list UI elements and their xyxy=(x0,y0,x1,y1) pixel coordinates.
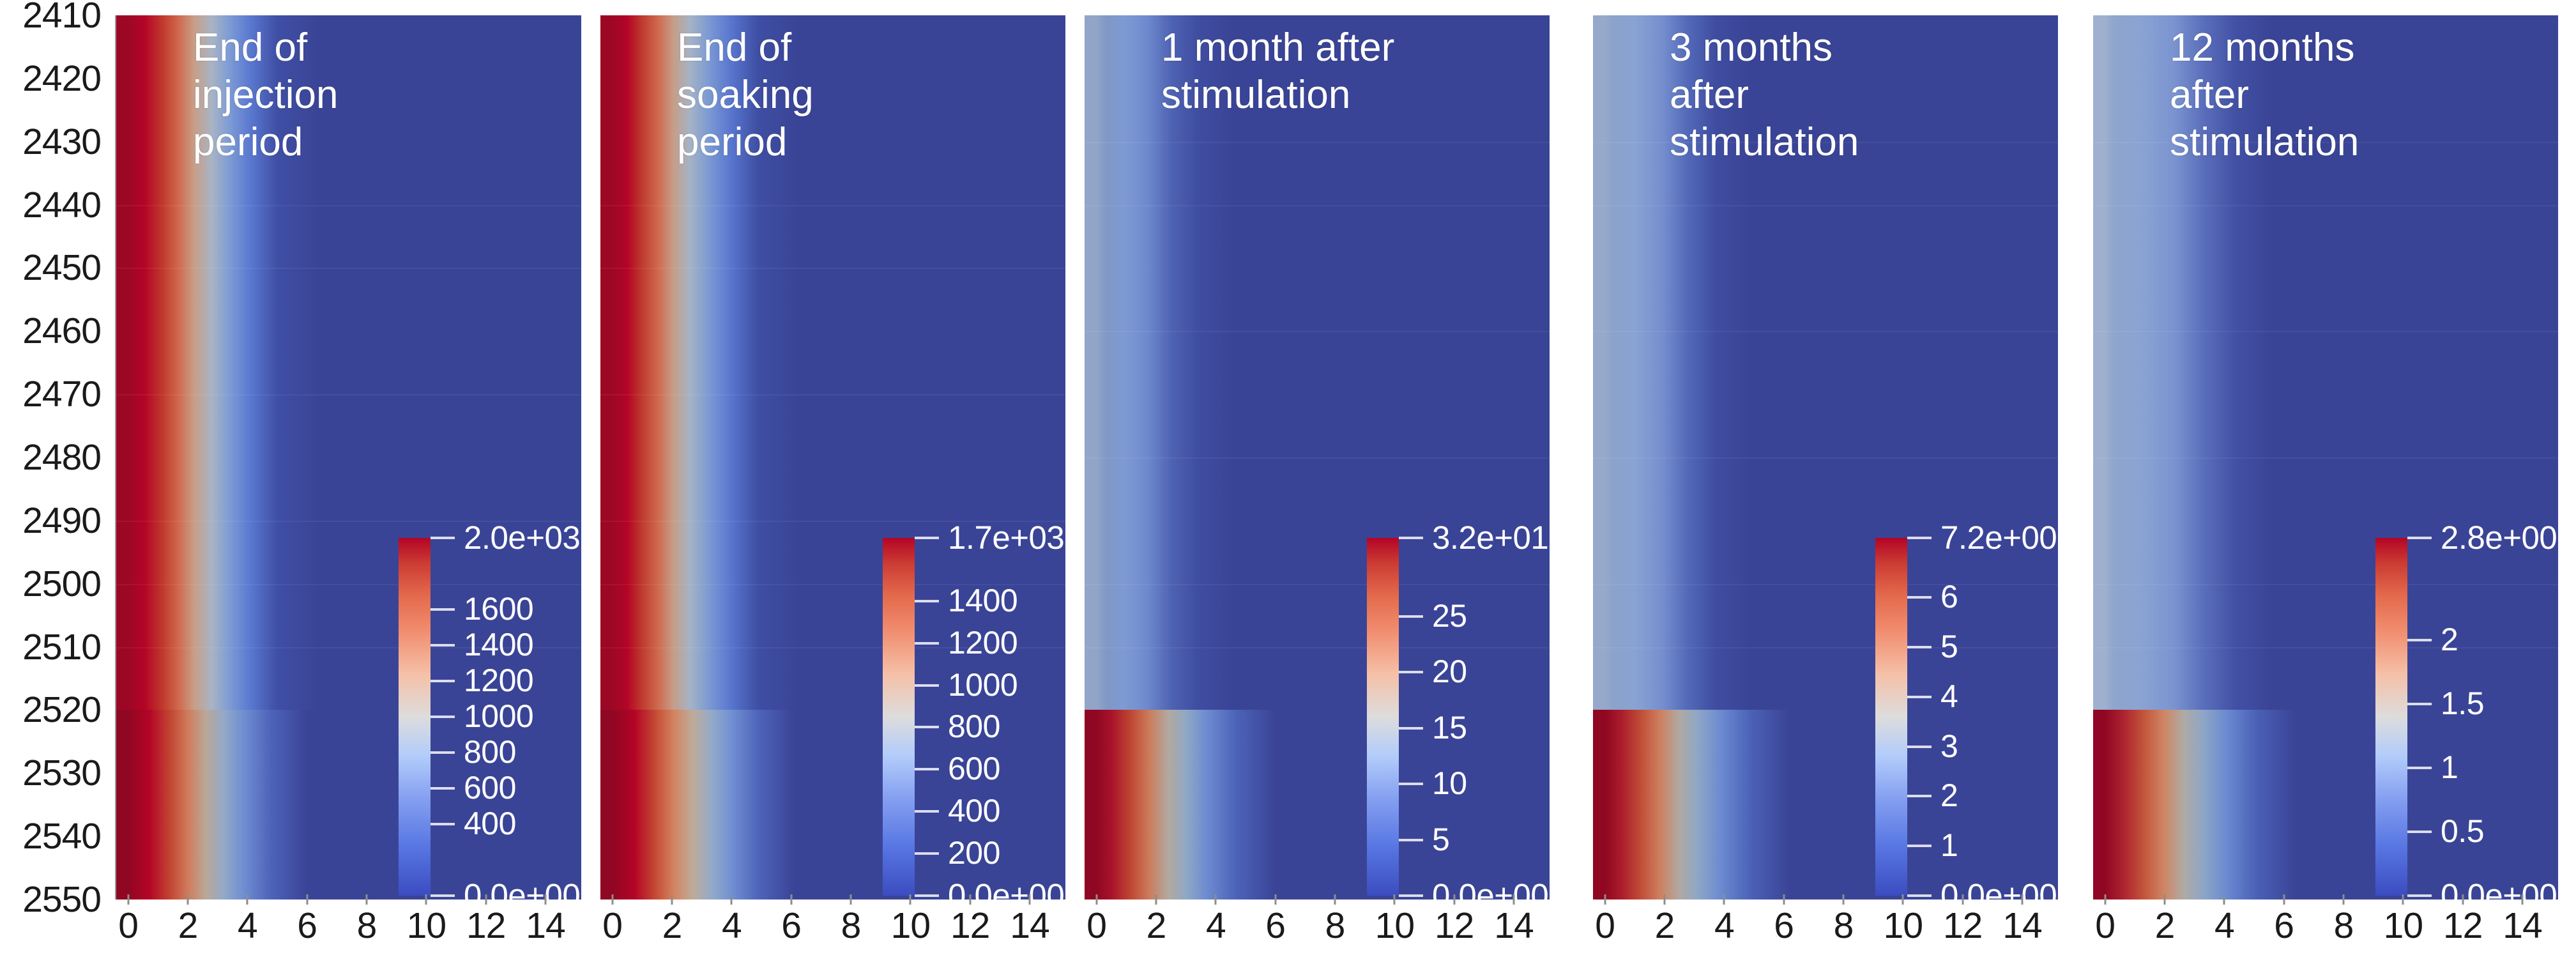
colorbar-tick-text: 1200 xyxy=(948,624,1017,661)
colorbar-tick-mark xyxy=(915,894,939,897)
depth-tick-label: 2450 xyxy=(22,247,101,289)
strata-seam xyxy=(1085,205,1550,206)
colorbar-tick-mark xyxy=(915,768,939,770)
colorbar-gradient xyxy=(399,538,431,896)
colorbar-tick-text: 1.5 xyxy=(2441,685,2484,722)
colorbar-tick-text: 1600 xyxy=(464,590,533,627)
distance-tick-label: 8 xyxy=(2334,905,2354,947)
colorbar-tick-mark xyxy=(1907,795,1932,797)
distance-tick-label: 2 xyxy=(178,905,198,947)
distance-tick-label: 0 xyxy=(602,905,622,947)
distance-tick-label: 6 xyxy=(781,905,801,947)
distance-tick-label: 4 xyxy=(238,905,257,947)
colorbar-tick-text: 2 xyxy=(2441,621,2458,658)
panel-title: End of injection period xyxy=(193,24,493,165)
distance-tick-label: 12 xyxy=(1435,905,1474,947)
distance-tick-label: 4 xyxy=(1206,905,1226,947)
colorbar-tick-mark xyxy=(1399,783,1423,785)
colorbar-tick-text: 10 xyxy=(1432,765,1467,802)
distance-tick-label: 10 xyxy=(2384,905,2423,947)
panel-end-of-soaking-period: End of soaking period1.7e+03140012001000… xyxy=(600,0,1065,957)
distance-tick-mark xyxy=(545,894,547,905)
depth-tick-label: 2510 xyxy=(22,626,101,668)
panel-one-month-after-stimulation: 1 month after stimulation3.2e+0125201510… xyxy=(1085,0,1550,957)
distance-tick-mark xyxy=(1604,894,1606,905)
colorbar: 7.2e+006543210.0e+00 xyxy=(1875,538,2067,896)
colorbar-tick-text: 1.7e+03 xyxy=(948,519,1064,556)
distance-tick-label: 12 xyxy=(466,905,505,947)
colorbar-tick-mark xyxy=(1907,537,1932,539)
colorbar-tick-text: 800 xyxy=(948,708,1000,745)
strata-seam xyxy=(600,268,1065,269)
colorbar-gradient xyxy=(2375,538,2407,896)
distance-tick-label: 10 xyxy=(891,905,930,947)
distance-tick-mark xyxy=(850,894,852,905)
colorbar-tick-mark xyxy=(1907,845,1932,847)
colorbar-tick-mark xyxy=(431,537,455,539)
colorbar-tick-mark xyxy=(1399,727,1423,730)
distance-tick-label: 2 xyxy=(2155,905,2175,947)
colorbar-tick-text: 1000 xyxy=(948,666,1017,703)
strata-seam xyxy=(1085,457,1550,459)
distance-tick-mark xyxy=(671,894,673,905)
distance-tick-mark xyxy=(1902,894,1904,905)
distance-tick-mark xyxy=(1962,894,1963,905)
colorbar-tick-text: 0.5 xyxy=(2441,813,2484,850)
colorbar-tick-mark xyxy=(915,642,939,645)
colorbar-tick-text: 6 xyxy=(1940,578,1958,615)
colorbar-tick-text: 1200 xyxy=(464,662,533,699)
colorbar-tick-text: 25 xyxy=(1432,597,1467,634)
distance-tick-label: 0 xyxy=(1086,905,1106,947)
colorbar-tick-text: 20 xyxy=(1432,653,1467,690)
depth-tick-label: 2420 xyxy=(22,57,101,100)
panel-title: 1 month after stimulation xyxy=(1161,24,1461,119)
colorbar-tick-mark xyxy=(431,751,455,754)
colorbar-tick-mark xyxy=(431,608,455,611)
distance-tick-mark xyxy=(969,894,971,905)
colorbar-tick-text: 400 xyxy=(464,805,516,842)
colorbar-tick-mark xyxy=(1399,894,1423,897)
distance-tick-label: 8 xyxy=(841,905,861,947)
strata-seam xyxy=(600,205,1065,206)
panel-end-of-injection-period: End of injection period2.0e+031600140012… xyxy=(116,0,581,957)
distance-tick-label: 4 xyxy=(722,905,742,947)
distance-tick-mark xyxy=(1334,894,1336,905)
distance-tick-mark xyxy=(2343,894,2345,905)
distance-tick-mark xyxy=(2462,894,2464,905)
strata-seam xyxy=(2093,331,2558,332)
depth-tick-label: 2520 xyxy=(22,689,101,731)
distance-tick-mark xyxy=(366,894,368,905)
distance-tick-mark xyxy=(187,894,189,905)
distance-tick-label: 8 xyxy=(1325,905,1345,947)
colorbar-tick-text: 200 xyxy=(948,834,1000,871)
colorbar-tick-mark xyxy=(1907,646,1932,648)
panel-three-months-after-stimulation: 3 months after stimulation7.2e+006543210… xyxy=(1593,0,2058,957)
multi-panel-heatmap-figure: 2410242024302440245024602470248024902500… xyxy=(0,0,2576,957)
colorbar-tick-text: 400 xyxy=(948,792,1000,829)
distance-tick-label: 2 xyxy=(1655,905,1675,947)
colorbar: 3.2e+012520151050.0e+00 xyxy=(1367,538,1559,896)
colorbar-tick-mark xyxy=(2407,767,2432,769)
distance-tick-label: 6 xyxy=(1774,905,1794,947)
depth-tick-label: 2480 xyxy=(22,436,101,478)
colorbar-tick-mark xyxy=(431,823,455,825)
colorbar-gradient xyxy=(883,538,915,896)
strata-seam xyxy=(116,394,581,395)
colorbar-tick-mark xyxy=(915,600,939,602)
distance-tick-mark xyxy=(2223,894,2225,905)
colorbar: 1.7e+031400120010008006004002000.0e+00 xyxy=(883,538,1074,896)
colorbar-tick-mark xyxy=(915,684,939,687)
strata-seam xyxy=(1593,205,2058,206)
distance-tick-mark xyxy=(611,894,613,905)
colorbar-tick-text: 1000 xyxy=(464,698,533,735)
strata-seam xyxy=(1593,457,2058,459)
colorbar-tick-mark xyxy=(915,726,939,728)
distance-tick-label: 14 xyxy=(1010,905,1049,947)
distance-tick-mark xyxy=(247,894,248,905)
colorbar-tick-mark xyxy=(431,716,455,718)
panel-title: End of soaking period xyxy=(677,24,977,165)
colorbar-tick-text: 600 xyxy=(948,750,1000,787)
distance-tick-label: 14 xyxy=(526,905,565,947)
depth-tick-label: 2530 xyxy=(22,752,101,794)
strata-seam xyxy=(600,394,1065,395)
depth-tick-label: 2440 xyxy=(22,184,101,226)
distance-tick-mark xyxy=(425,894,427,905)
colorbar-gradient xyxy=(1875,538,1907,896)
panel-title: 12 months after stimulation xyxy=(2170,24,2470,165)
colorbar-tick-text: 1 xyxy=(2441,749,2458,786)
colorbar-tick-text: 800 xyxy=(464,733,516,770)
distance-tick-mark xyxy=(910,894,911,905)
distance-tick-mark xyxy=(1095,894,1097,905)
colorbar-tick-text: 2.0e+03 xyxy=(464,519,580,556)
distance-tick-mark xyxy=(1274,894,1276,905)
distance-axis: 02468101214 xyxy=(2093,900,2558,957)
colorbar-tick-text: 2.8e+00 xyxy=(2441,519,2557,556)
colorbar-tick-text: 3 xyxy=(1940,728,1958,765)
strata-seam xyxy=(116,205,581,206)
distance-tick-label: 6 xyxy=(1265,905,1285,947)
distance-tick-mark xyxy=(731,894,733,905)
distance-tick-label: 2 xyxy=(662,905,682,947)
colorbar-tick-mark xyxy=(915,537,939,539)
distance-tick-label: 10 xyxy=(1884,905,1923,947)
strata-seam xyxy=(116,268,581,269)
distance-tick-mark xyxy=(127,894,129,905)
strata-seam xyxy=(1085,331,1550,332)
depth-tick-label: 2500 xyxy=(22,563,101,605)
distance-tick-label: 10 xyxy=(1375,905,1414,947)
colorbar-tick-mark xyxy=(2407,537,2432,539)
distance-tick-mark xyxy=(306,894,308,905)
distance-tick-mark xyxy=(2283,894,2285,905)
distance-tick-mark xyxy=(485,894,487,905)
colorbar-tick-mark xyxy=(431,644,455,647)
colorbar-tick-text: 5 xyxy=(1432,821,1449,858)
distance-tick-label: 4 xyxy=(2214,905,2234,947)
depth-tick-label: 2490 xyxy=(22,500,101,542)
depth-tick-label: 2460 xyxy=(22,310,101,352)
colorbar-tick-mark xyxy=(1399,839,1423,841)
distance-tick-mark xyxy=(1453,894,1455,905)
colorbar-tick-text: 600 xyxy=(464,769,516,806)
colorbar-tick-mark xyxy=(2407,639,2432,641)
distance-tick-label: 14 xyxy=(2002,905,2041,947)
colorbar-tick-text: 1400 xyxy=(948,582,1017,619)
distance-tick-label: 12 xyxy=(2443,905,2482,947)
colorbar-tick-mark xyxy=(1907,596,1932,599)
colorbar-tick-mark xyxy=(1907,696,1932,698)
distance-tick-label: 8 xyxy=(1834,905,1854,947)
distance-tick-label: 6 xyxy=(297,905,317,947)
colorbar-tick-text: 7.2e+00 xyxy=(1940,519,2057,556)
distance-tick-mark xyxy=(1723,894,1725,905)
colorbar: 2.8e+0021.510.50.0e+00 xyxy=(2375,538,2567,896)
distance-tick-mark xyxy=(1029,894,1031,905)
strata-seam xyxy=(2093,457,2558,459)
colorbar-tick-mark xyxy=(2407,703,2432,705)
distance-tick-label: 8 xyxy=(357,905,377,947)
colorbar: 2.0e+0316001400120010008006004000.0e+00 xyxy=(399,538,590,896)
panel-twelve-months-after-stimulation: 12 months after stimulation2.8e+0021.510… xyxy=(2093,0,2558,957)
colorbar-tick-text: 5 xyxy=(1940,628,1958,665)
colorbar-tick-mark xyxy=(1399,671,1423,673)
colorbar-tick-mark xyxy=(431,680,455,682)
distance-tick-label: 14 xyxy=(2503,905,2542,947)
distance-tick-label: 14 xyxy=(1494,905,1533,947)
distance-tick-mark xyxy=(2522,894,2524,905)
distance-tick-mark xyxy=(2164,894,2166,905)
colorbar-tick-mark xyxy=(1399,537,1423,539)
colorbar-tick-mark xyxy=(1907,746,1932,748)
distance-tick-mark xyxy=(2402,894,2404,905)
depth-tick-label: 2540 xyxy=(22,815,101,857)
colorbar-tick-text: 4 xyxy=(1940,678,1958,715)
distance-tick-mark xyxy=(2104,894,2106,905)
distance-tick-label: 2 xyxy=(1147,905,1166,947)
strata-seam xyxy=(1085,142,1550,143)
distance-tick-label: 12 xyxy=(1943,905,1982,947)
distance-tick-label: 0 xyxy=(1595,905,1615,947)
colorbar-tick-mark xyxy=(1907,894,1932,897)
colorbar-tick-text: 15 xyxy=(1432,709,1467,746)
strata-seam xyxy=(2093,205,2558,206)
distance-tick-label: 10 xyxy=(407,905,446,947)
colorbar-tick-text: 1400 xyxy=(464,626,533,663)
distance-tick-mark xyxy=(1215,894,1217,905)
distance-tick-mark xyxy=(1155,894,1157,905)
colorbar-tick-mark xyxy=(431,894,455,897)
colorbar-tick-mark xyxy=(915,810,939,813)
colorbar-tick-mark xyxy=(2407,894,2432,897)
panel-title: 3 months after stimulation xyxy=(1670,24,1970,165)
distance-tick-label: 4 xyxy=(1714,905,1734,947)
colorbar-tick-mark xyxy=(2407,831,2432,833)
colorbar-tick-mark xyxy=(431,787,455,790)
distance-axis: 02468101214 xyxy=(1593,900,2058,957)
distance-tick-label: 12 xyxy=(950,905,989,947)
strata-seam xyxy=(1593,331,2058,332)
colorbar-gradient xyxy=(1367,538,1399,896)
distance-tick-mark xyxy=(1513,894,1515,905)
colorbar-tick-text: 1 xyxy=(1940,827,1958,864)
distance-tick-label: 6 xyxy=(2274,905,2294,947)
distance-tick-mark xyxy=(1783,894,1785,905)
colorbar-tick-text: 3.2e+01 xyxy=(1432,519,1548,556)
distance-axis: 02468101214 xyxy=(116,900,581,957)
distance-tick-mark xyxy=(2022,894,2023,905)
distance-axis: 02468101214 xyxy=(1085,900,1550,957)
distance-axis: 02468101214 xyxy=(600,900,1065,957)
depth-tick-label: 2550 xyxy=(22,878,101,921)
colorbar-tick-mark xyxy=(1399,615,1423,618)
depth-tick-label: 2410 xyxy=(22,0,101,36)
depth-axis: 2410242024302440245024602470248024902500… xyxy=(0,0,110,957)
depth-tick-label: 2470 xyxy=(22,373,101,415)
distance-tick-mark xyxy=(1394,894,1396,905)
colorbar-tick-text: 2 xyxy=(1940,777,1958,814)
distance-tick-mark xyxy=(1664,894,1666,905)
depth-tick-label: 2430 xyxy=(22,121,101,163)
distance-tick-label: 0 xyxy=(118,905,138,947)
distance-tick-mark xyxy=(1843,894,1845,905)
distance-tick-mark xyxy=(790,894,792,905)
colorbar-tick-mark xyxy=(915,852,939,855)
distance-tick-label: 0 xyxy=(2095,905,2115,947)
